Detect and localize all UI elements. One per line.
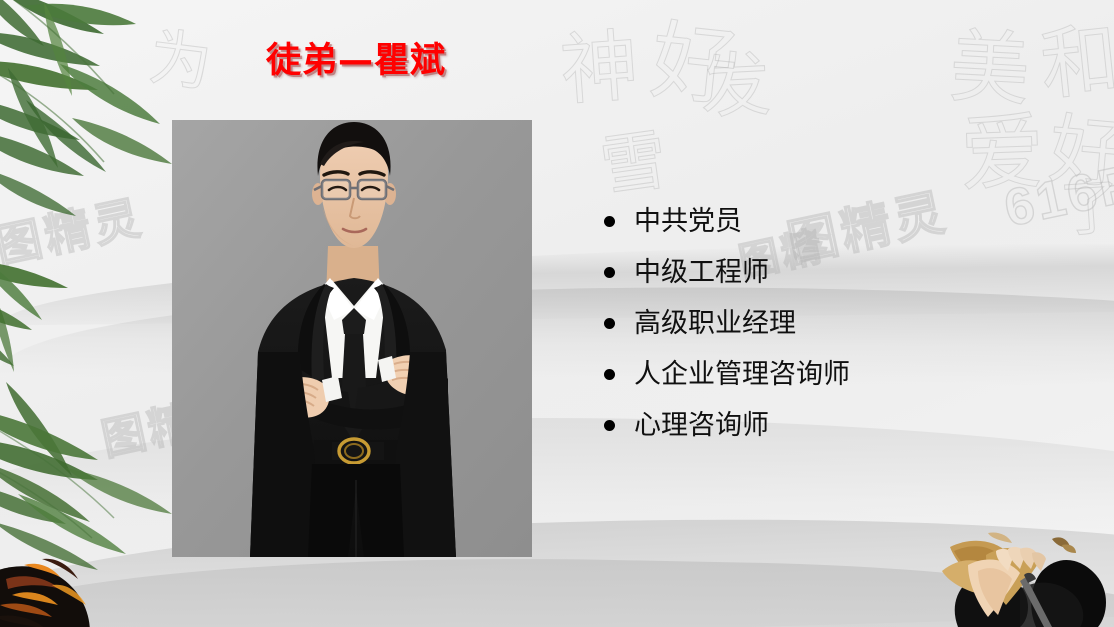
calligraphy-char: 和 <box>1034 0 1114 116</box>
calligraphy-char: 雪 <box>594 106 673 210</box>
slide-canvas: 神 好 发 美 和 爱 好 雪 为 了 图精灵 616P 图精灵 图精 图精灵 <box>0 0 1114 627</box>
list-item-label: 人企业管理咨询师 <box>634 361 850 388</box>
bullet-dot-icon <box>604 420 615 431</box>
watermark-text: 图精灵 <box>0 181 149 277</box>
portrait-illustration <box>172 120 532 557</box>
list-item-label: 中共党员 <box>634 208 742 235</box>
bullet-dot-icon <box>604 216 615 227</box>
calligraphy-char: 美 <box>947 2 1033 122</box>
ink-brush-bottom-left-icon <box>0 555 130 627</box>
bamboo-leaves-top-left-icon <box>0 0 194 240</box>
calligraphy-char: 好 <box>1045 87 1114 203</box>
bullet-dot-icon <box>604 267 615 278</box>
calligraphy-char: 发 <box>697 28 772 133</box>
calligraphy-char: 好 <box>646 0 745 123</box>
portrait-photo <box>172 120 532 557</box>
bullet-dot-icon <box>604 318 615 329</box>
calligraphy-char: 神 <box>556 3 642 120</box>
list-item: 高级职业经理 <box>604 298 1084 349</box>
list-item: 心理咨询师 <box>604 400 1084 451</box>
list-item: 中级工程师 <box>604 247 1084 298</box>
bamboo-leaves-middle-left-icon <box>0 256 106 396</box>
bamboo-leaves-bottom-left-icon <box>0 382 180 572</box>
ink-brush-hands-bottom-right-icon <box>924 531 1114 627</box>
calligraphy-char: 为 <box>145 7 218 104</box>
list-item-label: 高级职业经理 <box>634 310 796 337</box>
list-item: 人企业管理咨询师 <box>604 349 1084 400</box>
list-item-label: 心理咨询师 <box>634 412 769 439</box>
list-item-label: 中级工程师 <box>634 259 769 286</box>
page-title: 徒弟—瞿斌 <box>266 42 446 81</box>
calligraphy-char: 爱 <box>958 85 1046 209</box>
bullet-dot-icon <box>604 369 615 380</box>
credentials-list: 中共党员 中级工程师 高级职业经理 人企业管理咨询师 心理咨询师 <box>604 196 1084 451</box>
list-item: 中共党员 <box>604 196 1084 247</box>
